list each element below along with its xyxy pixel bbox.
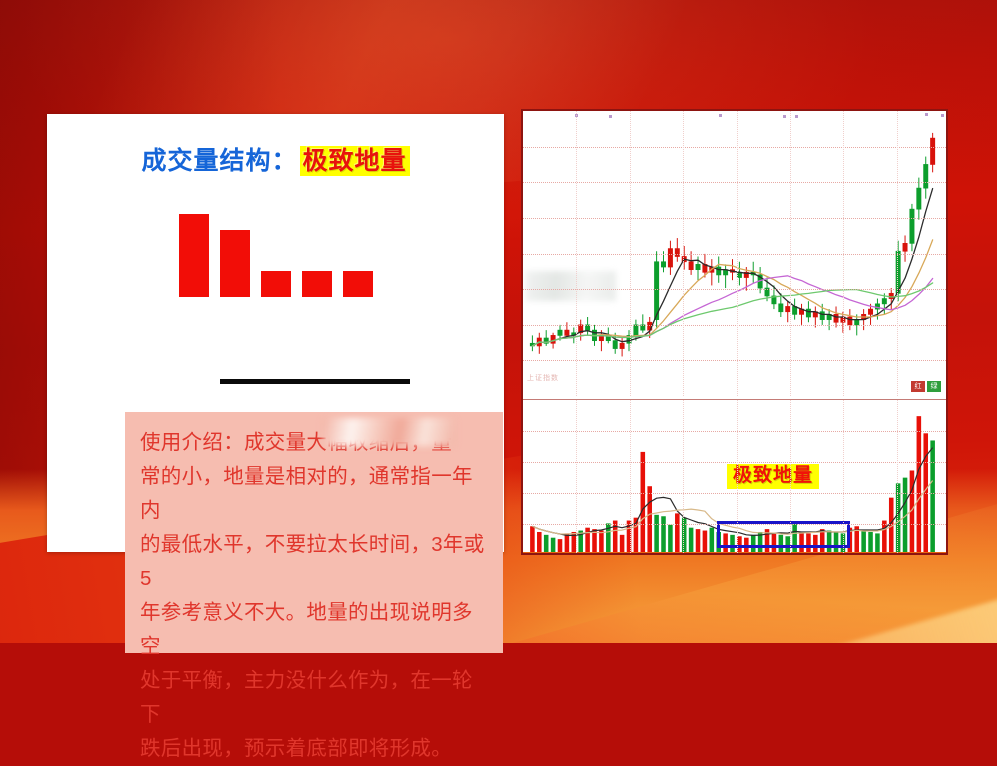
- note-line: 的最低水平，不要拉太长时间，3年或5: [140, 528, 490, 596]
- note-line: 跌后出现，预示着底部即将形成。: [140, 732, 490, 766]
- grid-line-horizontal: [523, 325, 946, 326]
- grid-line-vertical: [790, 111, 791, 396]
- stock-chart-panel[interactable]: 上证指数 红 绿 极致地量: [521, 109, 948, 555]
- usage-note-box: 使用介绍：成交量大幅收缩后，量 常的小，地量是相对的，通常指一年内 的最低水平，…: [125, 412, 503, 653]
- mini-bar: [220, 230, 250, 297]
- extreme-low-volume-annotation: 极致地量: [727, 464, 819, 489]
- price-pane[interactable]: 上证指数 红 绿: [523, 111, 946, 396]
- badge-green[interactable]: 绿: [927, 381, 941, 392]
- grid-line-vertical: [897, 111, 898, 396]
- mini-bar: [302, 271, 332, 297]
- info-card: 成交量结构：极致地量 使用介绍：成交量大幅收缩后，量 常的小，地量是相对的，通常…: [47, 114, 504, 552]
- grid-line-vertical: [683, 400, 684, 555]
- volume-pane[interactable]: 极致地量: [523, 399, 946, 555]
- note-line: 常的小，地量是相对的，通常指一年内: [140, 460, 490, 528]
- blurred-watermark-overlay: [323, 418, 455, 446]
- grid-line-horizontal: [523, 289, 946, 290]
- note-line: 年参考意义不大。地量的出现说明多空: [140, 596, 490, 664]
- mini-chart-baseline: [220, 379, 410, 384]
- grid-line-horizontal: [523, 182, 946, 183]
- grid-line-vertical: [630, 400, 631, 555]
- grid-line-vertical: [843, 400, 844, 555]
- grid-line-vertical: [576, 400, 577, 555]
- grid-line-horizontal: [523, 360, 946, 361]
- grid-line-horizontal: [523, 462, 946, 463]
- grid-line-vertical: [683, 111, 684, 396]
- mini-bar: [261, 271, 291, 297]
- grid-line-vertical: [737, 400, 738, 555]
- grid-line-vertical: [737, 111, 738, 396]
- grid-line-vertical: [897, 400, 898, 555]
- badge-red[interactable]: 红: [911, 381, 925, 392]
- mini-bar: [343, 271, 373, 297]
- grid-line-horizontal: [523, 218, 946, 219]
- mini-bar: [179, 214, 209, 297]
- grid-line-horizontal: [523, 254, 946, 255]
- card-title-prefix: 成交量结构：: [141, 147, 297, 175]
- card-title: 成交量结构：极致地量: [47, 141, 504, 177]
- card-title-highlight: 极致地量: [300, 146, 410, 176]
- grid-line-horizontal: [523, 524, 946, 525]
- grid-line-horizontal: [523, 431, 946, 432]
- volume-structure-bar-chart: [47, 202, 504, 297]
- grid-line-vertical: [790, 400, 791, 555]
- grid-line-vertical: [630, 111, 631, 396]
- grid-line-vertical: [843, 111, 844, 396]
- pane-badges[interactable]: 红 绿: [911, 381, 941, 392]
- grid-line-horizontal: [523, 147, 946, 148]
- volume-baseline: [523, 552, 946, 555]
- grid-line-vertical: [576, 111, 577, 396]
- ticker-label: 上证指数: [527, 373, 559, 383]
- note-line: 处于平衡，主力没什么作为，在一轮下: [140, 664, 490, 732]
- grid-line-horizontal: [523, 493, 946, 494]
